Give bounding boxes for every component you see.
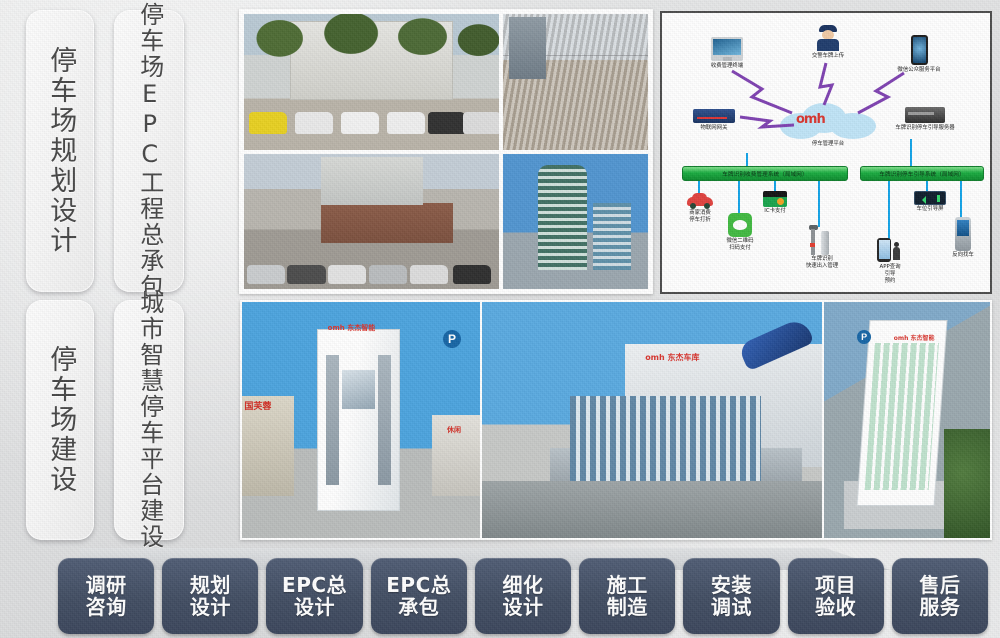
sidebar-card-smart-city-parking-platform[interactable]: 城市智慧停车平台建设 [114, 300, 184, 540]
sidebar-card-label: 停车场建设 [46, 345, 75, 495]
slide-canvas: 停车场规划设计 停车场EPC工程总承包 停车场建设 城市智慧停车平台建设 [0, 0, 1000, 638]
guidance-system-bar: 车牌识别停车引导系统（局域网） [860, 166, 984, 181]
photo-aerial-city-parking [503, 14, 648, 150]
photo-parking-lot-trees [244, 14, 499, 150]
kiosk-icon [955, 217, 971, 251]
ic-card-label: IC卡支付 [754, 208, 796, 215]
sidebar-card-parking-planning-design[interactable]: 停车场规划设计 [26, 10, 94, 292]
step-line-2: 制造 [607, 596, 648, 618]
street-sign-2: 休闲 [447, 425, 461, 435]
wechat-icon [728, 213, 752, 237]
sidebar-card-parking-epc-contracting[interactable]: 停车场EPC工程总承包 [114, 10, 184, 292]
step-line-2: 设计 [294, 596, 335, 618]
step-line-1: 规划 [190, 574, 231, 596]
step-line-2: 咨询 [86, 596, 127, 618]
led-display-icon [914, 191, 946, 205]
step-line-2: 设计 [502, 596, 543, 618]
wechat-qr-label: 微信二维码扫码支付 [716, 238, 764, 252]
car-row [244, 98, 499, 133]
process-step-planning-design[interactable]: 规划 设计 [162, 558, 258, 634]
process-step-construction-manufacturing[interactable]: 施工 制造 [579, 558, 675, 634]
parking-p-sign: P [443, 330, 461, 348]
connector-vertical [738, 181, 740, 215]
ic-card-icon [763, 191, 787, 207]
connector-vertical [818, 181, 820, 227]
step-line-2: 设计 [190, 596, 231, 618]
process-step-project-acceptance[interactable]: 项目 验收 [788, 558, 884, 634]
process-step-survey-consulting[interactable]: 调研 咨询 [58, 558, 154, 634]
red-car-icon [687, 193, 713, 209]
sidebar-card-label: 城市智慧停车平台建设 [136, 290, 161, 550]
process-step-row: 调研 咨询 规划 设计 EPC总 设计 EPC总 承包 细化 设计 施工 制造 … [58, 558, 988, 634]
connector-vertical [888, 181, 890, 239]
step-line-2: 承包 [398, 596, 439, 618]
guidance-screen-label: 车位引导屏 [910, 206, 950, 213]
brand-logo: omh 东杰智能 [328, 323, 376, 333]
connector-vertical [746, 153, 748, 167]
photo-glass-office-tower [503, 154, 648, 289]
rendering-aerial-tower: P omh 东杰智能 [824, 302, 990, 538]
step-line-1: 售后 [919, 574, 960, 596]
step-line-2: 服务 [919, 596, 960, 618]
step-line-1: 施工 [607, 574, 648, 596]
barrier-gate-icon [809, 225, 835, 255]
step-line-1: 项目 [815, 574, 856, 596]
photo-grid [239, 9, 653, 294]
process-step-detailed-design[interactable]: 细化 设计 [475, 558, 571, 634]
sidebar-card-parking-construction[interactable]: 停车场建设 [26, 300, 94, 540]
process-step-after-sales-service[interactable]: 售后 服务 [892, 558, 988, 634]
rendering-row: P omh 东杰智能 国芙蓉 休闲 omh 东杰车库 P omh 东杰智能 [240, 300, 992, 540]
process-step-epc-general-contract[interactable]: EPC总 承包 [371, 558, 467, 634]
step-line-1: 调研 [86, 574, 127, 596]
brand-logo: omh 东杰车库 [645, 352, 699, 363]
photo-brick-building-parking [244, 154, 499, 289]
connector-vertical [960, 181, 962, 219]
app-query-label: APP查询引导预约 [868, 264, 912, 284]
system-architecture-diagram: omh 停车管理平台 收费管理终端 交警车牌上传 微信公众服务平台 [660, 11, 992, 294]
step-line-1: EPC总 [282, 574, 347, 596]
reverse-find-label: 反向找车 [944, 252, 982, 259]
step-line-2: 调试 [711, 596, 752, 618]
car-row [244, 254, 499, 284]
step-line-2: 验收 [815, 596, 856, 618]
sidebar-card-label: 停车场规划设计 [46, 46, 75, 256]
step-line-1: 安装 [711, 574, 752, 596]
step-line-1: EPC总 [386, 574, 451, 596]
rendering-parking-tower: P omh 东杰智能 国芙蓉 休闲 [242, 302, 480, 538]
brand-logo: omh 东杰智能 [894, 333, 935, 342]
plate-fast-access-label: 车牌识别快速出入管理 [798, 256, 846, 270]
toll-system-bar: 车牌识别收费管理系统（局域网） [682, 166, 848, 181]
step-line-1: 细化 [502, 574, 543, 596]
app-phone-icon [877, 237, 903, 263]
sidebar-card-label: 停车场EPC工程总承包 [136, 2, 161, 300]
process-step-epc-general-design[interactable]: EPC总 设计 [266, 558, 362, 634]
connector-vertical [910, 139, 912, 167]
process-step-installation-commissioning[interactable]: 安装 调试 [683, 558, 779, 634]
street-sign-1: 国芙蓉 [244, 399, 271, 412]
rendering-glass-garage: omh 东杰车库 [482, 302, 822, 538]
